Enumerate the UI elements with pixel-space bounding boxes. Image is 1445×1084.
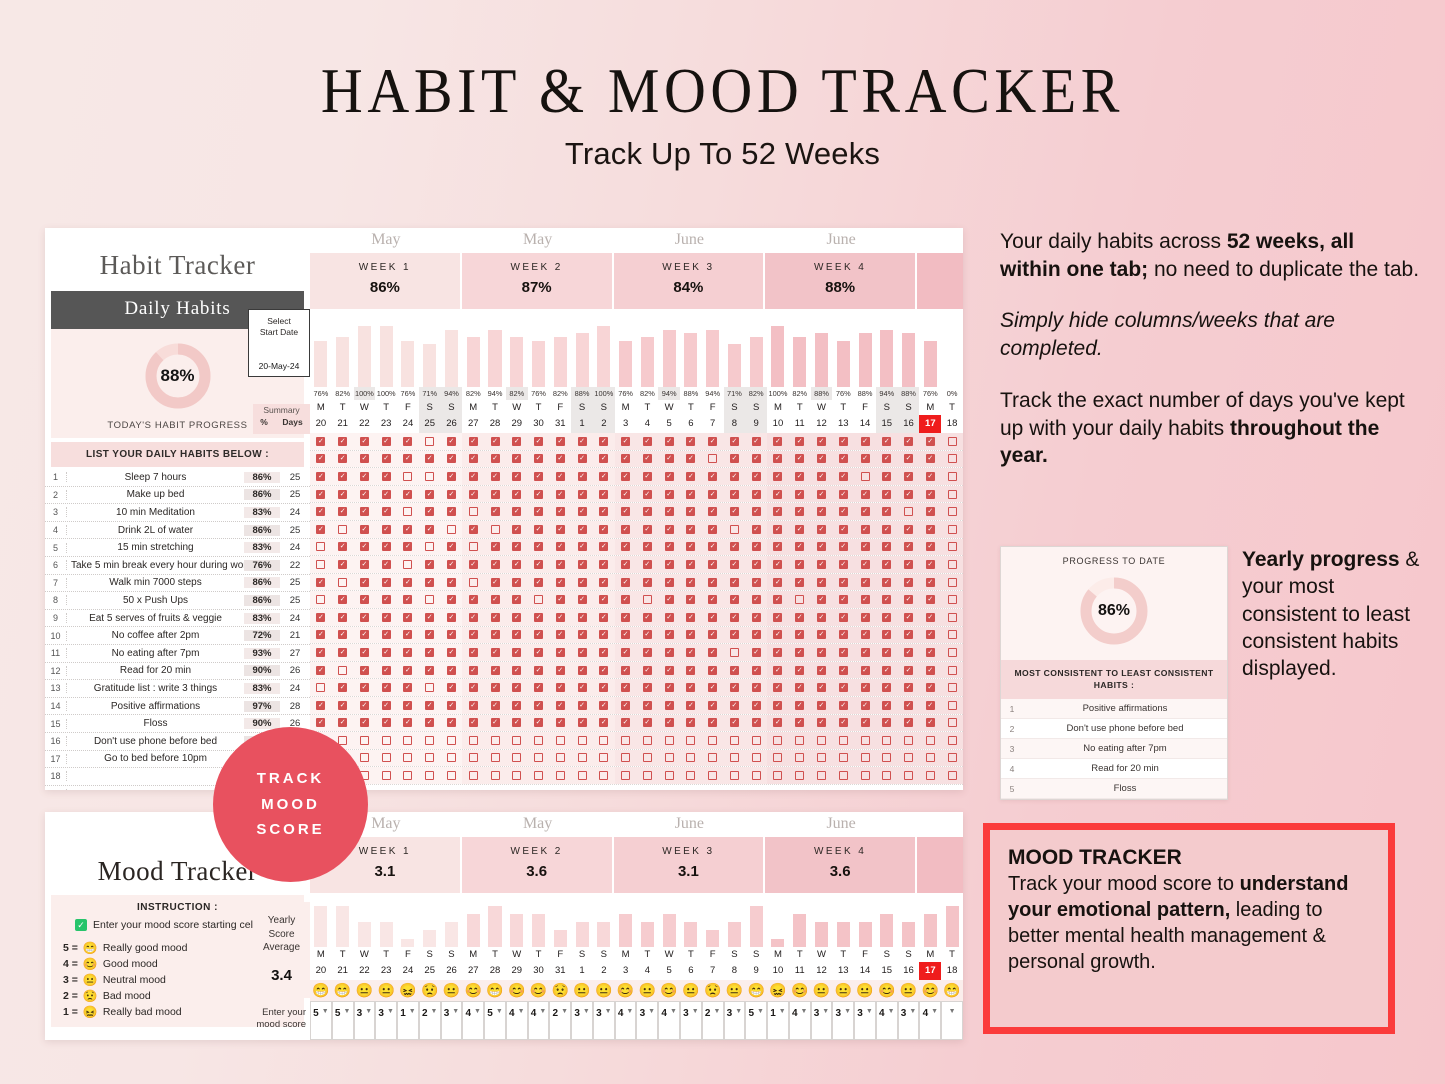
habit-checkbox-cell[interactable]: ✓ — [702, 662, 724, 679]
mood-score-cell[interactable]: 5▼ — [310, 1001, 332, 1040]
habit-checkbox-cell[interactable]: ✓ — [354, 556, 376, 573]
habit-checkbox-cell[interactable]: ✓ — [528, 503, 550, 520]
checkbox-checked-icon[interactable]: ✓ — [578, 666, 587, 675]
habit-checkbox-cell[interactable]: ✓ — [724, 697, 746, 714]
habit-checkbox-cell[interactable]: ✓ — [419, 486, 441, 503]
habit-checkbox-cell[interactable]: ✓ — [310, 521, 332, 538]
habit-checkbox-cell[interactable]: ✓ — [615, 715, 637, 732]
checkbox-checked-icon[interactable]: ✓ — [403, 630, 412, 639]
checkbox-empty-icon[interactable] — [360, 736, 369, 745]
checkbox-checked-icon[interactable]: ✓ — [512, 560, 521, 569]
checkbox-empty-icon[interactable] — [948, 542, 957, 551]
habit-checkbox-cell[interactable]: ✓ — [745, 521, 767, 538]
habit-checkbox-cell[interactable]: ✓ — [528, 521, 550, 538]
checkbox-checked-icon[interactable]: ✓ — [773, 454, 782, 463]
habit-checkbox-cell[interactable] — [549, 750, 571, 767]
habit-checkbox-cell[interactable]: ✓ — [484, 609, 506, 626]
habit-checkbox-cell[interactable] — [680, 767, 702, 784]
habit-checkbox-cell[interactable] — [528, 591, 550, 608]
habit-checkbox-cell[interactable]: ✓ — [854, 662, 876, 679]
habit-checkbox-cell[interactable]: ✓ — [789, 644, 811, 661]
habit-row-name[interactable]: No eating after 7pm — [67, 648, 244, 659]
habit-checkbox-cell[interactable]: ✓ — [854, 591, 876, 608]
checkbox-checked-icon[interactable]: ✓ — [752, 437, 761, 446]
habit-checkbox-cell[interactable]: ✓ — [419, 627, 441, 644]
habit-checkbox-cell[interactable]: ✓ — [789, 486, 811, 503]
habit-checkbox-cell[interactable] — [876, 732, 898, 749]
checkbox-checked-icon[interactable]: ✓ — [599, 683, 608, 692]
habit-checkbox-cell[interactable]: ✓ — [680, 486, 702, 503]
habit-checkbox-cell[interactable]: ✓ — [811, 644, 833, 661]
checkbox-checked-icon[interactable]: ✓ — [752, 490, 761, 499]
checkbox-checked-icon[interactable]: ✓ — [621, 560, 630, 569]
habit-row[interactable]: 14Positive affirmations97%28 — [45, 698, 310, 716]
checkbox-empty-icon[interactable] — [665, 736, 674, 745]
habit-checkbox-cell[interactable]: ✓ — [767, 574, 789, 591]
checkbox-checked-icon[interactable]: ✓ — [665, 437, 674, 446]
checkbox-checked-icon[interactable]: ✓ — [665, 507, 674, 516]
habit-checkbox-cell[interactable] — [854, 767, 876, 784]
habit-checkbox-cell[interactable]: ✓ — [332, 539, 354, 556]
habit-checkbox-cell[interactable] — [615, 767, 637, 784]
chevron-down-icon[interactable]: ▼ — [431, 1008, 438, 1015]
habit-checkbox-cell[interactable]: ✓ — [854, 556, 876, 573]
checkbox-empty-icon[interactable] — [708, 454, 717, 463]
habit-checkbox-cell[interactable]: ✓ — [506, 433, 528, 450]
habit-checkbox-cell[interactable] — [898, 503, 920, 520]
habit-checkbox-cell[interactable]: ✓ — [702, 574, 724, 591]
mood-score-cell[interactable]: 4▼ — [876, 1001, 898, 1040]
checkbox-checked-icon[interactable]: ✓ — [578, 683, 587, 692]
habit-checkbox-cell[interactable]: ✓ — [310, 609, 332, 626]
checkbox-checked-icon[interactable]: ✓ — [708, 718, 717, 727]
checkbox-checked-icon[interactable]: ✓ — [534, 472, 543, 481]
habit-checkbox-cell[interactable]: ✓ — [506, 503, 528, 520]
habit-checkbox-cell[interactable]: ✓ — [354, 662, 376, 679]
checkbox-checked-icon[interactable]: ✓ — [861, 718, 870, 727]
checkbox-checked-icon[interactable]: ✓ — [556, 525, 565, 534]
habit-checkbox-cell[interactable] — [506, 732, 528, 749]
habit-checkbox-cell[interactable]: ✓ — [745, 662, 767, 679]
mood-score-cell[interactable]: 3▼ — [571, 1001, 593, 1040]
checkbox-checked-icon[interactable]: ✓ — [512, 525, 521, 534]
habit-checkbox-cell[interactable]: ✓ — [876, 715, 898, 732]
mood-score-cell[interactable]: 3▼ — [854, 1001, 876, 1040]
habit-checkbox-cell[interactable] — [310, 679, 332, 696]
habit-checkbox-cell[interactable] — [941, 503, 963, 520]
checkbox-empty-icon[interactable] — [382, 753, 391, 762]
habit-checkbox-cell[interactable] — [680, 750, 702, 767]
habit-checkbox-cell[interactable]: ✓ — [636, 556, 658, 573]
checkbox-checked-icon[interactable]: ✓ — [839, 630, 848, 639]
habit-checkbox-cell[interactable] — [462, 767, 484, 784]
habit-checkbox-cell[interactable]: ✓ — [593, 715, 615, 732]
checkbox-checked-icon[interactable]: ✓ — [469, 525, 478, 534]
habit-checkbox-cell[interactable]: ✓ — [658, 609, 680, 626]
habit-checkbox-cell[interactable] — [528, 767, 550, 784]
checkbox-checked-icon[interactable]: ✓ — [665, 630, 674, 639]
checkbox-checked-icon[interactable]: ✓ — [752, 701, 761, 710]
habit-checkbox-cell[interactable]: ✓ — [506, 627, 528, 644]
checkbox-checked-icon[interactable]: ✓ — [621, 542, 630, 551]
checkbox-checked-icon[interactable]: ✓ — [686, 560, 695, 569]
habit-checkbox-cell[interactable] — [702, 451, 724, 468]
checkbox-empty-icon[interactable] — [469, 578, 478, 587]
habit-checkbox-cell[interactable] — [658, 767, 680, 784]
checkbox-checked-icon[interactable]: ✓ — [360, 560, 369, 569]
checkbox-empty-icon[interactable] — [882, 736, 891, 745]
habit-checkbox-cell[interactable] — [397, 732, 419, 749]
checkbox-checked-icon[interactable]: ✓ — [817, 472, 826, 481]
habit-checkbox-cell[interactable]: ✓ — [919, 644, 941, 661]
checkbox-checked-icon[interactable]: ✓ — [382, 666, 391, 675]
chevron-down-icon[interactable]: ▼ — [888, 1008, 895, 1015]
habit-checkbox-cell[interactable]: ✓ — [506, 539, 528, 556]
habit-checkbox-cell[interactable]: ✓ — [506, 486, 528, 503]
checkbox-checked-icon[interactable]: ✓ — [665, 454, 674, 463]
habit-checkbox-cell[interactable]: ✓ — [702, 556, 724, 573]
habit-checkbox-cell[interactable]: ✓ — [571, 556, 593, 573]
checkbox-checked-icon[interactable]: ✓ — [599, 560, 608, 569]
habit-checkbox-cell[interactable]: ✓ — [745, 556, 767, 573]
chevron-down-icon[interactable]: ▼ — [561, 1008, 568, 1015]
checkbox-empty-icon[interactable] — [686, 753, 695, 762]
checkbox-checked-icon[interactable]: ✓ — [643, 525, 652, 534]
habit-checkbox-cell[interactable] — [528, 732, 550, 749]
checkbox-checked-icon[interactable]: ✓ — [578, 560, 587, 569]
checkbox-empty-icon[interactable] — [621, 736, 630, 745]
habit-checkbox-cell[interactable] — [549, 732, 571, 749]
checkbox-checked-icon[interactable]: ✓ — [534, 490, 543, 499]
habit-checkbox-cell[interactable] — [789, 767, 811, 784]
checkbox-empty-icon[interactable] — [948, 718, 957, 727]
habit-checkbox-cell[interactable]: ✓ — [419, 556, 441, 573]
checkbox-checked-icon[interactable]: ✓ — [708, 595, 717, 604]
habit-checkbox-cell[interactable]: ✓ — [310, 433, 332, 450]
checkbox-checked-icon[interactable]: ✓ — [904, 613, 913, 622]
checkbox-checked-icon[interactable]: ✓ — [512, 472, 521, 481]
chevron-down-icon[interactable]: ▼ — [909, 1008, 916, 1015]
checkbox-checked-icon[interactable]: ✓ — [599, 613, 608, 622]
habit-checkbox-cell[interactable]: ✓ — [615, 574, 637, 591]
checkbox-checked-icon[interactable]: ✓ — [752, 560, 761, 569]
checkbox-checked-icon[interactable]: ✓ — [773, 613, 782, 622]
checkbox-checked-icon[interactable]: ✓ — [491, 666, 500, 675]
checkbox-checked-icon[interactable]: ✓ — [534, 718, 543, 727]
checkbox-checked-icon[interactable]: ✓ — [578, 525, 587, 534]
habit-checkbox-cell[interactable]: ✓ — [397, 715, 419, 732]
checkbox-checked-icon[interactable]: ✓ — [512, 613, 521, 622]
habit-checkbox-cell[interactable]: ✓ — [832, 662, 854, 679]
checkbox-empty-icon[interactable] — [403, 472, 412, 481]
habit-checkbox-cell[interactable] — [941, 644, 963, 661]
habit-checkbox-cell[interactable] — [767, 767, 789, 784]
habit-checkbox-cell[interactable]: ✓ — [658, 574, 680, 591]
habit-checkbox-cell[interactable]: ✓ — [680, 556, 702, 573]
habit-checkbox-cell[interactable] — [506, 767, 528, 784]
checkbox-checked-icon[interactable]: ✓ — [447, 683, 456, 692]
checkbox-empty-icon[interactable] — [425, 683, 434, 692]
checkbox-checked-icon[interactable]: ✓ — [360, 701, 369, 710]
habit-checkbox-cell[interactable]: ✓ — [876, 591, 898, 608]
checkbox-checked-icon[interactable]: ✓ — [599, 648, 608, 657]
habit-checkbox-cell[interactable]: ✓ — [484, 679, 506, 696]
habit-checkbox-cell[interactable]: ✓ — [354, 539, 376, 556]
checkbox-checked-icon[interactable]: ✓ — [708, 472, 717, 481]
checkbox-checked-icon[interactable]: ✓ — [730, 718, 739, 727]
habit-checkbox-cell[interactable]: ✓ — [854, 486, 876, 503]
checkbox-checked-icon[interactable]: ✓ — [708, 525, 717, 534]
checkbox-checked-icon[interactable]: ✓ — [926, 490, 935, 499]
checkbox-checked-icon[interactable]: ✓ — [686, 437, 695, 446]
habit-checkbox-cell[interactable]: ✓ — [832, 609, 854, 626]
habit-checkbox-cell[interactable]: ✓ — [528, 627, 550, 644]
habit-checkbox-cell[interactable]: ✓ — [419, 662, 441, 679]
checkbox-checked-icon[interactable]: ✓ — [469, 454, 478, 463]
habit-checkbox-cell[interactable]: ✓ — [636, 574, 658, 591]
habit-checkbox-cell[interactable]: ✓ — [832, 679, 854, 696]
checkbox-checked-icon[interactable]: ✓ — [469, 595, 478, 604]
habit-checkbox-cell[interactable]: ✓ — [636, 644, 658, 661]
habit-checkbox-cell[interactable]: ✓ — [593, 521, 615, 538]
checkbox-checked-icon[interactable]: ✓ — [491, 595, 500, 604]
habit-row[interactable]: 12Read for 20 min90%26 — [45, 663, 310, 681]
checkbox-checked-icon[interactable]: ✓ — [861, 560, 870, 569]
checkbox-checked-icon[interactable]: ✓ — [382, 630, 391, 639]
habit-checkbox-cell[interactable]: ✓ — [832, 556, 854, 573]
checkbox-checked-icon[interactable]: ✓ — [338, 718, 347, 727]
habit-checkbox-cell[interactable]: ✓ — [506, 644, 528, 661]
chevron-down-icon[interactable]: ▼ — [949, 1008, 956, 1015]
checkbox-checked-icon[interactable]: ✓ — [316, 454, 325, 463]
checkbox-checked-icon[interactable]: ✓ — [643, 701, 652, 710]
habit-checkbox-cell[interactable]: ✓ — [636, 662, 658, 679]
habit-checkbox-cell[interactable] — [941, 715, 963, 732]
habit-row[interactable]: 11No eating after 7pm93%27 — [45, 645, 310, 663]
habit-checkbox-cell[interactable] — [941, 433, 963, 450]
checkbox-checked-icon[interactable]: ✓ — [382, 718, 391, 727]
mood-score-cell[interactable]: 2▼ — [702, 1001, 724, 1040]
habit-checkbox-cell[interactable]: ✓ — [898, 644, 920, 661]
checkbox-checked-icon[interactable]: ✓ — [773, 560, 782, 569]
habit-checkbox-cell[interactable]: ✓ — [506, 451, 528, 468]
habit-checkbox-cell[interactable] — [397, 468, 419, 485]
habit-checkbox-cell[interactable] — [484, 767, 506, 784]
habit-checkbox-cell[interactable]: ✓ — [593, 451, 615, 468]
habit-checkbox-cell[interactable]: ✓ — [680, 662, 702, 679]
habit-checkbox-cell[interactable]: ✓ — [832, 591, 854, 608]
habit-checkbox-cell[interactable] — [941, 609, 963, 626]
chevron-down-icon[interactable]: ▼ — [626, 1008, 633, 1015]
habit-checkbox-cell[interactable]: ✓ — [375, 715, 397, 732]
habit-checkbox-cell[interactable]: ✓ — [767, 539, 789, 556]
habit-checkbox-cell[interactable]: ✓ — [528, 539, 550, 556]
chevron-down-icon[interactable]: ▼ — [735, 1008, 742, 1015]
habit-checkbox-cell[interactable]: ✓ — [528, 433, 550, 450]
habit-checkbox-cell[interactable]: ✓ — [919, 662, 941, 679]
chevron-down-icon[interactable]: ▼ — [452, 1008, 459, 1015]
checkbox-checked-icon[interactable]: ✓ — [730, 701, 739, 710]
checkbox-checked-icon[interactable]: ✓ — [752, 595, 761, 604]
habit-row-name[interactable]: Floss — [67, 718, 244, 729]
habit-checkbox-cell[interactable] — [332, 662, 354, 679]
checkbox-checked-icon[interactable]: ✓ — [730, 472, 739, 481]
checkbox-checked-icon[interactable]: ✓ — [882, 472, 891, 481]
checkbox-empty-icon[interactable] — [643, 736, 652, 745]
habit-checkbox-cell[interactable]: ✓ — [876, 574, 898, 591]
habit-checkbox-cell[interactable]: ✓ — [898, 468, 920, 485]
checkbox-checked-icon[interactable]: ✓ — [773, 507, 782, 516]
habit-checkbox-cell[interactable]: ✓ — [397, 644, 419, 661]
checkbox-checked-icon[interactable]: ✓ — [403, 542, 412, 551]
habit-checkbox-cell[interactable]: ✓ — [310, 644, 332, 661]
habit-checkbox-cell[interactable]: ✓ — [484, 433, 506, 450]
mood-score-cell[interactable]: 4▼ — [789, 1001, 811, 1040]
checkbox-checked-icon[interactable]: ✓ — [904, 542, 913, 551]
checkbox-empty-icon[interactable] — [882, 771, 891, 780]
checkbox-checked-icon[interactable]: ✓ — [730, 507, 739, 516]
checkbox-checked-icon[interactable]: ✓ — [882, 630, 891, 639]
checkbox-checked-icon[interactable]: ✓ — [382, 490, 391, 499]
habit-checkbox-cell[interactable]: ✓ — [876, 662, 898, 679]
habit-checkbox-cell[interactable]: ✓ — [484, 539, 506, 556]
checkbox-empty-icon[interactable] — [447, 736, 456, 745]
habit-row-name[interactable]: Walk min 7000 steps — [67, 577, 244, 588]
habit-checkbox-cell[interactable]: ✓ — [441, 503, 463, 520]
checkbox-checked-icon[interactable]: ✓ — [469, 613, 478, 622]
habit-checkbox-cell[interactable]: ✓ — [484, 591, 506, 608]
checkbox-checked-icon[interactable]: ✓ — [425, 454, 434, 463]
checkbox-empty-icon[interactable] — [948, 437, 957, 446]
checkbox-checked-icon[interactable]: ✓ — [621, 613, 630, 622]
checkbox-checked-icon[interactable]: ✓ — [730, 683, 739, 692]
habit-checkbox-cell[interactable]: ✓ — [636, 539, 658, 556]
habit-checkbox-cell[interactable]: ✓ — [854, 574, 876, 591]
checkbox-checked-icon[interactable]: ✓ — [861, 595, 870, 604]
checkbox-checked-icon[interactable]: ✓ — [686, 666, 695, 675]
habit-checkbox-cell[interactable]: ✓ — [549, 539, 571, 556]
checkbox-checked-icon[interactable]: ✓ — [817, 507, 826, 516]
habit-checkbox-cell[interactable] — [702, 767, 724, 784]
checkbox-checked-icon[interactable]: ✓ — [708, 613, 717, 622]
habit-checkbox-cell[interactable]: ✓ — [680, 715, 702, 732]
checkbox-checked-icon[interactable]: ✓ — [316, 630, 325, 639]
habit-checkbox-cell[interactable]: ✓ — [484, 662, 506, 679]
checkbox-checked-icon[interactable]: ✓ — [882, 525, 891, 534]
habit-checkbox-cell[interactable] — [832, 767, 854, 784]
checkbox-checked-icon[interactable]: ✓ — [338, 437, 347, 446]
checkbox-checked-icon[interactable]: ✓ — [556, 472, 565, 481]
habit-checkbox-cell[interactable] — [375, 732, 397, 749]
checkbox-checked-icon[interactable]: ✓ — [621, 578, 630, 587]
checkbox-empty-icon[interactable] — [730, 525, 739, 534]
habit-checkbox-cell[interactable]: ✓ — [745, 627, 767, 644]
checkbox-checked-icon[interactable]: ✓ — [512, 648, 521, 657]
checkbox-checked-icon[interactable]: ✓ — [338, 490, 347, 499]
habit-checkbox-cell[interactable]: ✓ — [680, 644, 702, 661]
habit-checkbox-cell[interactable]: ✓ — [462, 644, 484, 661]
habit-checkbox-cell[interactable] — [636, 732, 658, 749]
checkbox-empty-icon[interactable] — [316, 595, 325, 604]
checkbox-checked-icon[interactable]: ✓ — [817, 648, 826, 657]
checkbox-checked-icon[interactable]: ✓ — [447, 630, 456, 639]
habit-checkbox-cell[interactable] — [419, 767, 441, 784]
checkbox-checked-icon[interactable]: ✓ — [425, 613, 434, 622]
checkbox-checked-icon[interactable]: ✓ — [665, 472, 674, 481]
checkbox-checked-icon[interactable]: ✓ — [469, 437, 478, 446]
checkbox-checked-icon[interactable]: ✓ — [861, 683, 870, 692]
checkbox-checked-icon[interactable]: ✓ — [382, 472, 391, 481]
checkbox-empty-icon[interactable] — [752, 753, 761, 762]
habit-checkbox-cell[interactable] — [658, 750, 680, 767]
habit-checkbox-cell[interactable]: ✓ — [702, 697, 724, 714]
habit-checkbox-cell[interactable]: ✓ — [636, 679, 658, 696]
habit-checkbox-cell[interactable]: ✓ — [658, 679, 680, 696]
checkbox-checked-icon[interactable]: ✓ — [686, 613, 695, 622]
chevron-down-icon[interactable]: ▼ — [387, 1008, 394, 1015]
habit-checkbox-cell[interactable] — [419, 732, 441, 749]
checkbox-checked-icon[interactable]: ✓ — [382, 454, 391, 463]
checkbox-checked-icon[interactable]: ✓ — [469, 630, 478, 639]
habit-checkbox-cell[interactable]: ✓ — [898, 679, 920, 696]
habit-checkbox-cell[interactable]: ✓ — [615, 644, 637, 661]
checkbox-checked-icon[interactable]: ✓ — [708, 630, 717, 639]
habit-checkbox-cell[interactable]: ✓ — [702, 486, 724, 503]
checkbox-checked-icon[interactable]: ✓ — [360, 437, 369, 446]
checkbox-checked-icon[interactable]: ✓ — [556, 630, 565, 639]
checkbox-empty-icon[interactable] — [926, 736, 935, 745]
checkbox-checked-icon[interactable]: ✓ — [491, 454, 500, 463]
habit-checkbox-cell[interactable]: ✓ — [898, 715, 920, 732]
checkbox-empty-icon[interactable] — [621, 771, 630, 780]
checkbox-checked-icon[interactable]: ✓ — [904, 630, 913, 639]
habit-checkbox-cell[interactable] — [462, 503, 484, 520]
checkbox-empty-icon[interactable] — [491, 753, 500, 762]
habit-checkbox-cell[interactable]: ✓ — [767, 609, 789, 626]
habit-checkbox-cell[interactable]: ✓ — [615, 451, 637, 468]
checkbox-empty-icon[interactable] — [360, 753, 369, 762]
checkbox-empty-icon[interactable] — [403, 560, 412, 569]
checkbox-checked-icon[interactable]: ✓ — [621, 490, 630, 499]
habit-checkbox-cell[interactable]: ✓ — [876, 433, 898, 450]
habit-checkbox-cell[interactable]: ✓ — [462, 715, 484, 732]
checkbox-checked-icon[interactable]: ✓ — [534, 666, 543, 675]
habit-checkbox-cell[interactable]: ✓ — [724, 679, 746, 696]
chevron-down-icon[interactable]: ▼ — [496, 1008, 503, 1015]
checkbox-empty-icon[interactable] — [686, 736, 695, 745]
checkbox-checked-icon[interactable]: ✓ — [316, 613, 325, 622]
checkbox-checked-icon[interactable]: ✓ — [382, 542, 391, 551]
checkbox-checked-icon[interactable]: ✓ — [360, 613, 369, 622]
checkbox-checked-icon[interactable]: ✓ — [882, 701, 891, 710]
habit-checkbox-cell[interactable]: ✓ — [375, 609, 397, 626]
checkbox-empty-icon[interactable] — [730, 648, 739, 657]
habit-checkbox-cell[interactable]: ✓ — [636, 503, 658, 520]
checkbox-empty-icon[interactable] — [578, 736, 587, 745]
habit-checkbox-cell[interactable]: ✓ — [724, 591, 746, 608]
habit-checkbox-cell[interactable] — [593, 767, 615, 784]
habit-checkbox-cell[interactable]: ✓ — [767, 679, 789, 696]
habit-checkbox-cell[interactable]: ✓ — [615, 468, 637, 485]
checkbox-checked-icon[interactable]: ✓ — [686, 648, 695, 657]
checkbox-checked-icon[interactable]: ✓ — [578, 630, 587, 639]
checkbox-empty-icon[interactable] — [643, 595, 652, 604]
habit-checkbox-cell[interactable]: ✓ — [441, 715, 463, 732]
checkbox-checked-icon[interactable]: ✓ — [578, 595, 587, 604]
checkbox-checked-icon[interactable]: ✓ — [512, 454, 521, 463]
habit-checkbox-cell[interactable] — [441, 732, 463, 749]
habit-checkbox-cell[interactable]: ✓ — [549, 609, 571, 626]
